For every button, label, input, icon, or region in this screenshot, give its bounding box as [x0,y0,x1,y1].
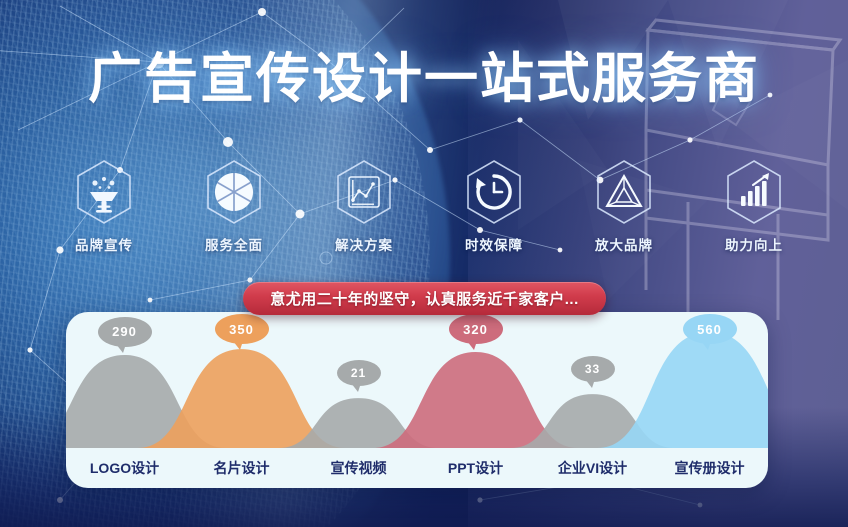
value-bubble-tail [116,344,126,353]
line-chart-icon [333,158,395,226]
category-label: 名片设计 [214,458,270,478]
value-bubble-tail [467,341,477,350]
chart-area: 2903502132033560 [66,312,768,448]
page-title: 广告宣传设计一站式服务商 [0,52,848,106]
feature-label: 解决方案 [312,234,416,254]
category-label: 企业VI设计 [558,458,627,478]
value-bubble: 33 [571,356,615,382]
chart-category-labels: LOGO设计名片设计宣传视频PPT设计企业VI设计宣传册设计 [66,448,768,488]
clock-history-icon [463,158,525,226]
value-bubble-tail [585,379,595,388]
category-label: 宣传视频 [331,458,387,478]
chart-value-bubbles: 2903502132033560 [66,312,768,448]
feature-label: 放大品牌 [572,234,676,254]
feature-item-solutions[interactable]: 解决方案 [312,158,416,254]
value-bubble: 560 [683,314,737,344]
feature-label: 品牌宣传 [52,234,156,254]
value-bubble-tail [233,341,243,350]
feature-label: 时效保障 [442,234,546,254]
value-bubble-text: 320 [449,314,503,344]
feature-item-brand-promotion[interactable]: 品牌宣传 [52,158,156,254]
feature-item-full-service[interactable]: 服务全面 [182,158,286,254]
promo-banner-text: 意尤用二十年的坚守，认真服务近千家客户... [270,288,579,309]
value-bubble: 290 [98,317,152,347]
chart-panel: 2903502132033560 LOGO设计名片设计宣传视频PPT设计企业VI… [66,312,768,488]
value-bubble: 21 [337,360,381,386]
value-bubble-text: 350 [215,314,269,344]
bar-chart-arrow-icon [723,158,785,226]
feature-label: 助力向上 [702,234,806,254]
category-label: PPT设计 [448,458,503,478]
triangle-icon [593,158,655,226]
feature-item-amplify-brand[interactable]: 放大品牌 [572,158,676,254]
category-label: 宣传册设计 [675,458,745,478]
feature-item-boost-upward[interactable]: 助力向上 [702,158,806,254]
value-bubble-tail [351,383,361,392]
value-bubble-text: 290 [98,317,152,347]
feature-item-timeliness[interactable]: 时效保障 [442,158,546,254]
feature-label: 服务全面 [182,234,286,254]
aperture-icon [203,158,265,226]
value-bubble: 350 [215,314,269,344]
value-bubble-text: 560 [683,314,737,344]
value-bubble: 320 [449,314,503,344]
megaphone-icon [73,158,135,226]
feature-row: 品牌宣传 [52,158,806,254]
poster-canvas: 广告宣传设计一站式服务商 [0,0,848,527]
category-label: LOGO设计 [90,458,159,478]
promo-banner: 意尤用二十年的坚守，认真服务近千家客户... [243,282,606,315]
value-bubble-tail [701,341,711,350]
